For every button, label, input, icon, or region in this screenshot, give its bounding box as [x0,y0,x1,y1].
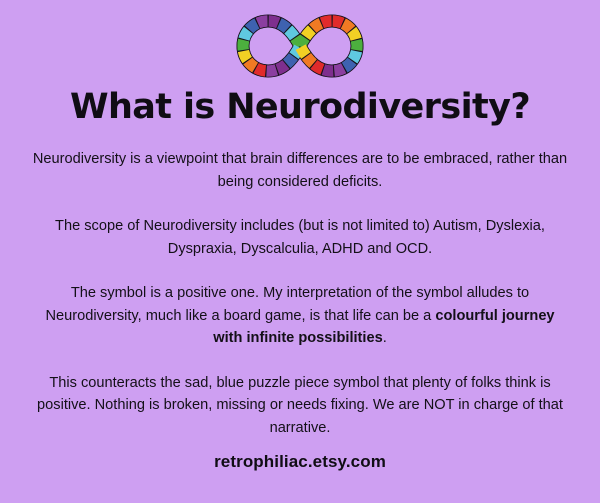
neurodiversity-infinity-symbol [235,14,365,78]
paragraph-3: The symbol is a positive one. My interpr… [30,282,570,350]
body-copy: Neurodiversity is a viewpoint that brain… [30,148,570,439]
shop-url: retrophiliac.etsy.com [0,452,600,472]
paragraph-2: The scope of Neurodiversity includes (bu… [30,215,570,260]
page-title: What is Neurodiversity? [70,88,530,127]
infinity-outline [243,21,357,71]
neurodiversity-poster: What is Neurodiversity? Neurodiversity i… [0,0,600,503]
paragraph-3-tail: . [383,330,387,346]
paragraph-1: Neurodiversity is a viewpoint that brain… [30,148,570,193]
paragraph-4: This counteracts the sad, blue puzzle pi… [30,372,570,440]
